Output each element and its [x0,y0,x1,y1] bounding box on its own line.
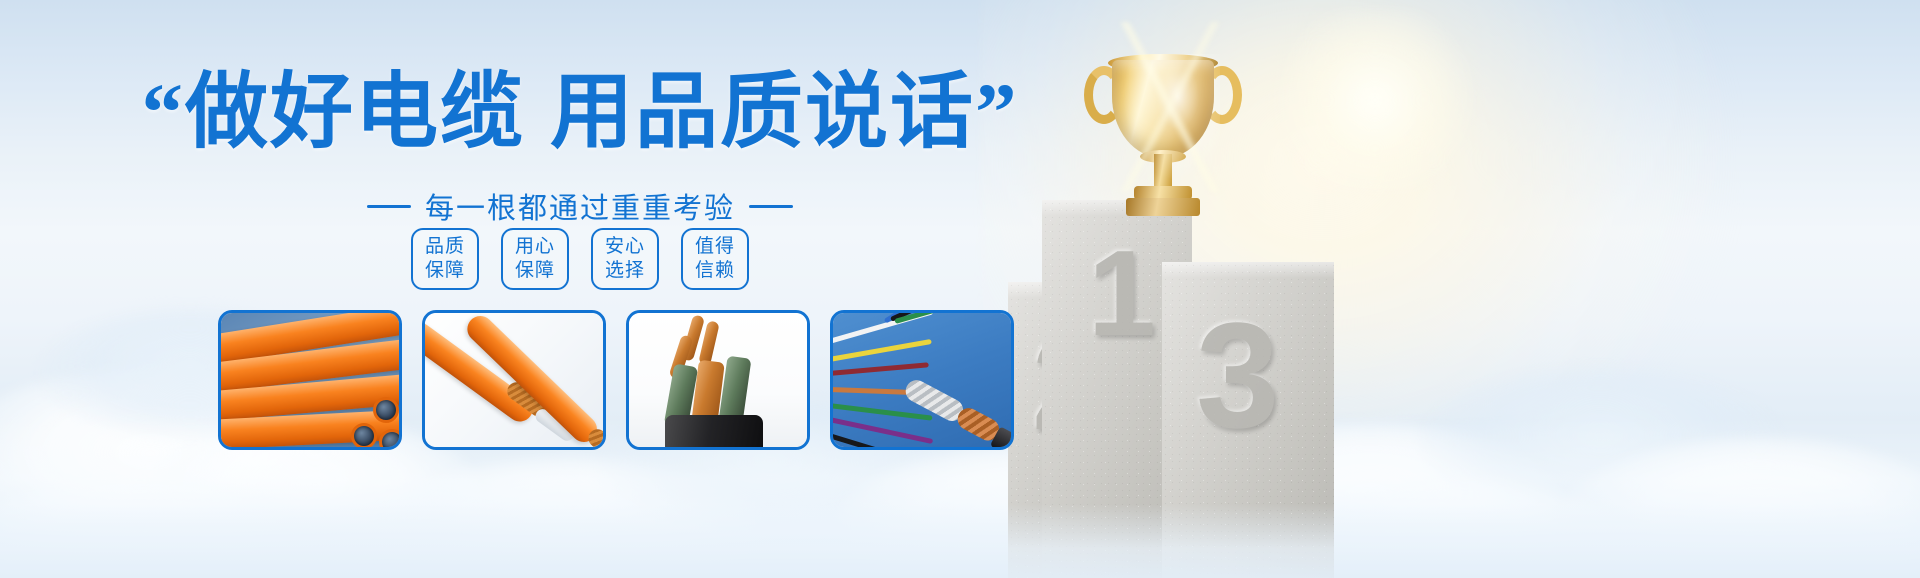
subtitle-dash-left [367,205,411,208]
black-armoured-cable-image [629,313,807,447]
badge-line-1: 安心 [605,235,645,259]
badge-line-2: 保障 [425,259,465,283]
product-thumbnail-strip [218,310,1014,450]
promo-banner: 2 1 3 “做好电缆 用品质说话” [0,0,1920,578]
badge-confident-choice[interactable]: 安心 选择 [591,228,659,290]
ground-haze [0,504,1920,578]
badge-quality-assurance[interactable]: 品质 保障 [411,228,479,290]
badge-line-2: 保障 [515,259,555,283]
orange-cable-ends-image [425,313,603,447]
shielded-multicore-cable-image [833,313,1011,447]
headline-text: 做好电缆 用品质说话 [185,65,975,158]
badge-line-1: 品质 [425,235,465,259]
badge-dedicated-assurance[interactable]: 用心 保障 [501,228,569,290]
podium-number-3: 3 [1196,300,1279,450]
product-thumbnail-orange-coils[interactable] [218,310,402,450]
trust-badge-group: 品质 保障 用心 保障 安心 选择 值得 信赖 [0,228,1160,290]
subtitle-dash-right [749,205,793,208]
badge-line-1: 值得 [695,235,735,259]
product-thumbnail-armoured-cable[interactable] [626,310,810,450]
product-thumbnail-shielded-cable[interactable] [830,310,1014,450]
badge-line-2: 选择 [605,259,645,283]
orange-multicore-cable-image [221,313,399,447]
close-quote-glyph: ” [975,66,1019,158]
badge-line-2: 信赖 [695,259,735,283]
open-quote-glyph: “ [141,66,185,158]
banner-subtitle-row: 每一根都通过重重考验 [0,185,1160,227]
product-thumbnail-stripped-cable[interactable] [422,310,606,450]
badge-line-1: 用心 [515,235,555,259]
banner-headline: “做好电缆 用品质说话” [0,70,1160,154]
banner-subtitle: 每一根都通过重重考验 [425,185,735,227]
badge-trustworthy[interactable]: 值得 信赖 [681,228,749,290]
